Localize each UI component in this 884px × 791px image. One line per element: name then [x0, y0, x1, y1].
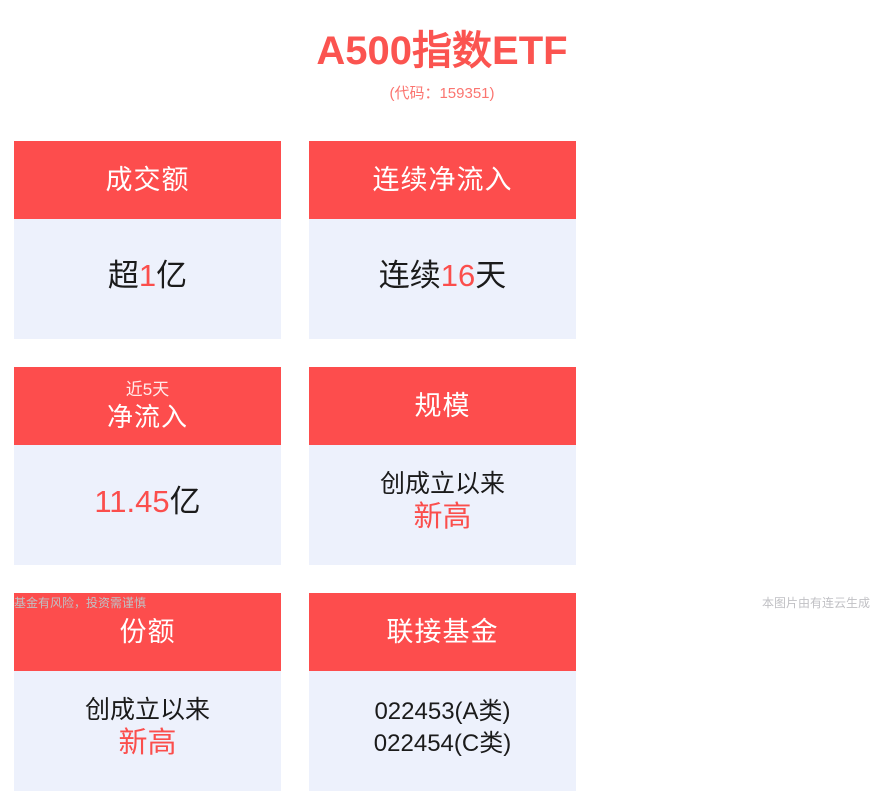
card-body-consecutive-net-inflow: 连续16天	[309, 219, 576, 339]
card-body-turnover: 超1亿	[14, 219, 281, 339]
metric-card-grid: 成交额超1亿连续净流入连续16天近5天净流入11.45亿规模创成立以来新高份额创…	[14, 141, 870, 791]
card-value-part: 11.45	[94, 484, 169, 519]
metric-card-turnover: 成交额超1亿	[14, 141, 281, 339]
card-heading: 连续净流入	[373, 164, 513, 196]
image-attribution: 本图片由有连云生成	[762, 594, 870, 612]
card-value-part: 亿	[170, 484, 201, 519]
card-body-scale: 创成立以来新高	[309, 445, 576, 565]
card-header-five-day-net-inflow: 近5天净流入	[14, 367, 281, 445]
card-body-feeder-fund: 022453(A类)022454(C类)	[309, 671, 576, 791]
card-heading: 规模	[415, 390, 471, 422]
card-value-line: 新高	[118, 726, 176, 761]
metric-card-consecutive-net-inflow: 连续净流入连续16天	[309, 141, 576, 339]
risk-disclaimer: 基金有风险，投资需谨慎	[14, 594, 146, 612]
card-value-part: 连续	[379, 258, 441, 293]
card-value-part: 1	[139, 258, 156, 293]
card-value-part: 天	[475, 258, 506, 293]
card-value-line: 022453(A类)	[374, 696, 510, 728]
metric-card-five-day-net-inflow: 近5天净流入11.45亿	[14, 367, 281, 565]
card-header-scale: 规模	[309, 367, 576, 445]
page-title: A500指数ETF	[0, 26, 884, 76]
card-body-five-day-net-inflow: 11.45亿	[14, 445, 281, 565]
card-value-line: 022454(C类)	[374, 728, 511, 760]
card-value-line: 超1亿	[108, 257, 187, 295]
page-footer: 基金有风险，投资需谨慎 本图片由有连云生成	[0, 584, 884, 632]
card-value-part: 16	[441, 258, 475, 293]
card-body-shares: 创成立以来新高	[14, 671, 281, 791]
fund-code-subtitle: (代码：159351)	[0, 83, 884, 105]
card-value-line: 创成立以来	[380, 469, 505, 500]
card-value-part: 新高	[118, 727, 176, 759]
card-value-part: 022453(A类)	[374, 698, 510, 725]
card-value-line: 11.45亿	[94, 483, 200, 521]
card-value-part: 022454(C类)	[374, 730, 511, 757]
card-heading: 净流入	[107, 401, 188, 433]
card-value-part: 创成立以来	[85, 696, 210, 724]
card-heading: 成交额	[106, 164, 190, 196]
card-value-line: 新高	[413, 500, 471, 535]
card-value-line: 连续16天	[379, 257, 506, 295]
card-value-line: 创成立以来	[85, 695, 210, 726]
card-value-part: 超	[108, 258, 139, 293]
page-header: A500指数ETF (代码：159351)	[0, 0, 884, 105]
card-value-part: 亿	[156, 258, 187, 293]
card-header-turnover: 成交额	[14, 141, 281, 219]
infographic-page: A500指数ETF (代码：159351) 成交额超1亿连续净流入连续16天近5…	[0, 0, 884, 632]
card-value-part: 创成立以来	[380, 470, 505, 498]
card-kicker: 近5天	[126, 379, 169, 401]
card-header-consecutive-net-inflow: 连续净流入	[309, 141, 576, 219]
metric-card-scale: 规模创成立以来新高	[309, 367, 576, 565]
card-value-part: 新高	[413, 501, 471, 533]
